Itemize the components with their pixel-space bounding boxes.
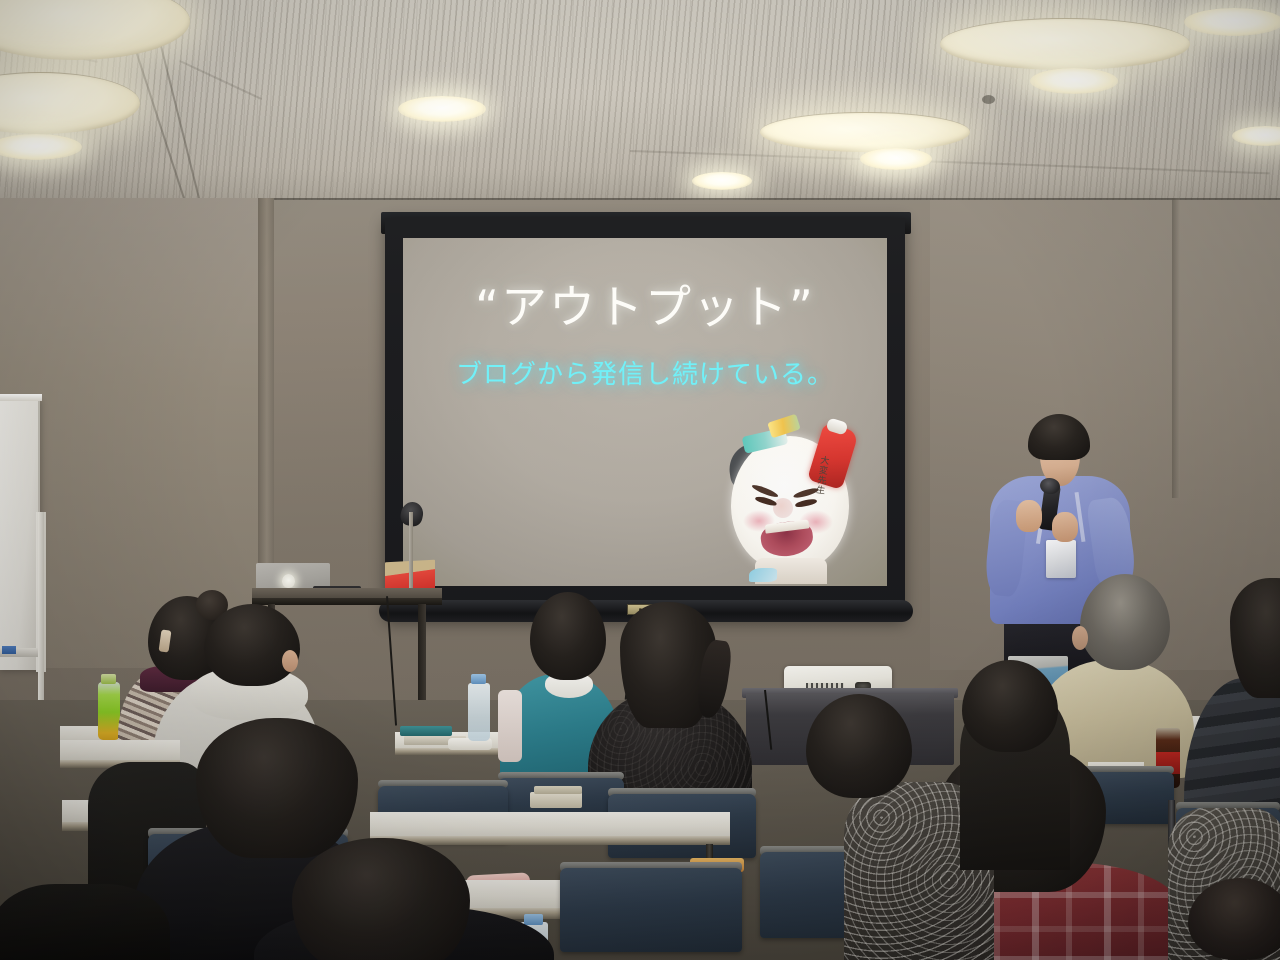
ceiling-light-large: [760, 112, 970, 152]
presenter-name-badge: [1046, 540, 1076, 578]
whiteboard-top-rail: [0, 394, 42, 401]
audience-head: [196, 718, 358, 858]
projection-screen-surface: “アウトプット” ブログから発信し続けている。 大変先生: [403, 238, 887, 586]
audience-head: [530, 592, 606, 680]
notebook: [530, 792, 582, 808]
bottle-cap: [524, 914, 543, 925]
table-top: [60, 740, 180, 762]
audience-ear: [282, 650, 298, 672]
audience-head: [292, 838, 470, 960]
chair-back: [560, 868, 742, 952]
table-top: [370, 812, 730, 838]
green-tea-bottle: [98, 682, 120, 740]
seminar-room-photo: “アウトプット” ブログから発信し続けている。 大変先生 ■■■: [0, 0, 1280, 960]
audience-body: [0, 884, 170, 960]
audience-head: [806, 694, 912, 798]
slide-title: “アウトプット”: [403, 284, 887, 330]
ceiling-downlight: [692, 172, 752, 190]
slide-subtitle: ブログから発信し続けている。: [403, 362, 887, 388]
slide-photo-caricature: 大変先生: [703, 418, 883, 586]
bottle-cap: [101, 674, 116, 684]
ceiling-light-large: [940, 18, 1190, 70]
presenter-hand-left: [1016, 500, 1042, 532]
presenter-hand-right: [1052, 512, 1078, 542]
ceiling-downlight: [398, 96, 486, 122]
audience-undershirt: [498, 690, 522, 762]
wall-corner-edge: [1172, 198, 1180, 498]
audience-ear: [1072, 626, 1088, 650]
whiteboard-blue-clip: [2, 646, 16, 654]
water-bottle: [468, 683, 490, 741]
whiteboard-panel: [0, 398, 40, 670]
av-table-edge: [252, 598, 442, 605]
microphone-stand: [409, 512, 413, 592]
audience-head: [204, 604, 300, 686]
caricature-nose: [773, 498, 793, 518]
audience-head: [1080, 574, 1170, 670]
ceiling-downlight: [1030, 68, 1118, 94]
bottle-cap: [471, 674, 486, 684]
ceiling-downlight: [860, 148, 932, 170]
ceiling-downlight: [1184, 8, 1280, 36]
ceiling-fixture-mount: [982, 95, 995, 104]
table-edge: [370, 836, 730, 845]
ceiling: [0, 0, 1280, 215]
apple-logo-icon: [282, 574, 295, 588]
teal-folder: [400, 726, 452, 736]
audience-head: [962, 660, 1058, 752]
av-table-leg: [418, 604, 426, 700]
notebook: [534, 786, 582, 794]
caricature-collar: [749, 568, 777, 582]
